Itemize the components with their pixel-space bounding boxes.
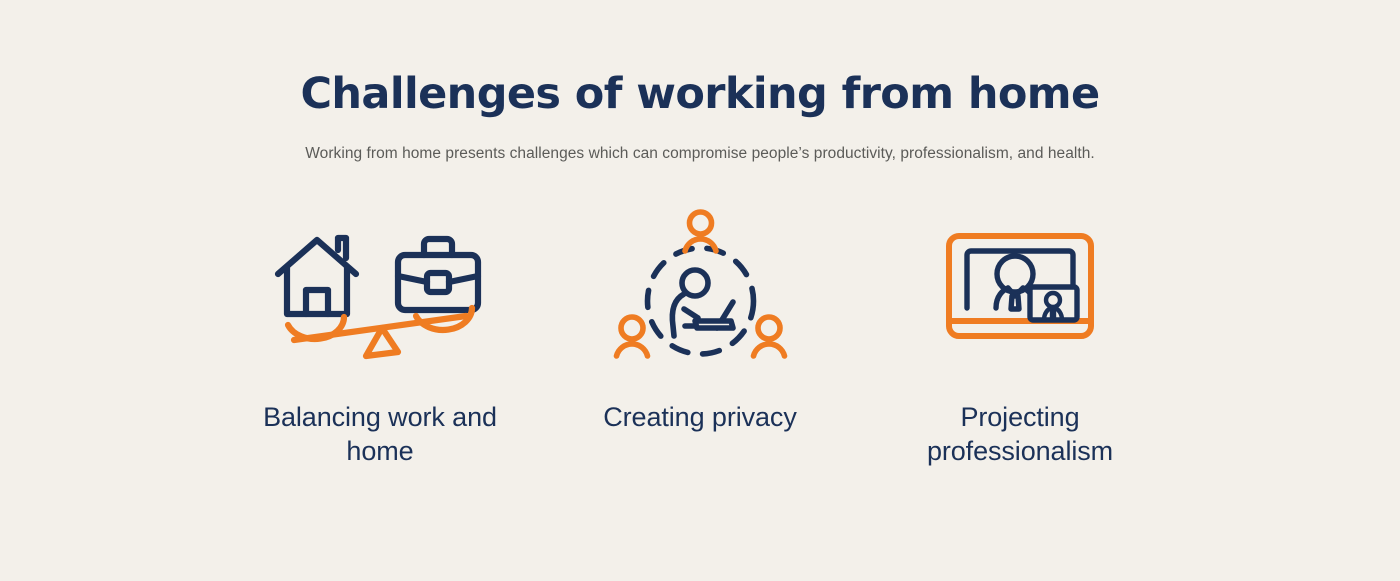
page-title: Challenges of working from home [0, 72, 1400, 117]
privacy-bubble-icon [613, 203, 788, 378]
challenge-card-label: Creating privacy [603, 400, 796, 434]
person-icon [685, 212, 716, 251]
challenge-card-list: Balancing work and home [140, 203, 1260, 468]
page-subtitle: Working from home presents challenges wh… [0, 143, 1400, 165]
person-icon [753, 317, 784, 356]
house-icon [278, 238, 356, 314]
privacy-bubble-svg [613, 208, 788, 373]
video-call-svg [945, 230, 1095, 350]
dashed-circle-icon [647, 248, 753, 354]
video-call-professionalism-icon [945, 203, 1095, 378]
challenge-card-creating-privacy: Creating privacy [540, 203, 860, 434]
work-home-balance-icon [270, 203, 490, 378]
page-header: Challenges of working from home Working … [0, 72, 1400, 165]
page-root: Challenges of working from home Working … [0, 0, 1400, 581]
challenge-card-projecting-professionalism: Projecting professionalism [860, 203, 1180, 468]
person-with-laptop-icon [672, 270, 733, 336]
work-home-balance-svg [270, 220, 490, 360]
challenge-card-label: Balancing work and home [250, 400, 510, 468]
briefcase-icon [398, 239, 478, 310]
person-icon [616, 317, 647, 356]
challenge-card-label: Projecting professionalism [890, 400, 1150, 468]
challenge-card-balancing-work-and-home: Balancing work and home [220, 203, 540, 468]
